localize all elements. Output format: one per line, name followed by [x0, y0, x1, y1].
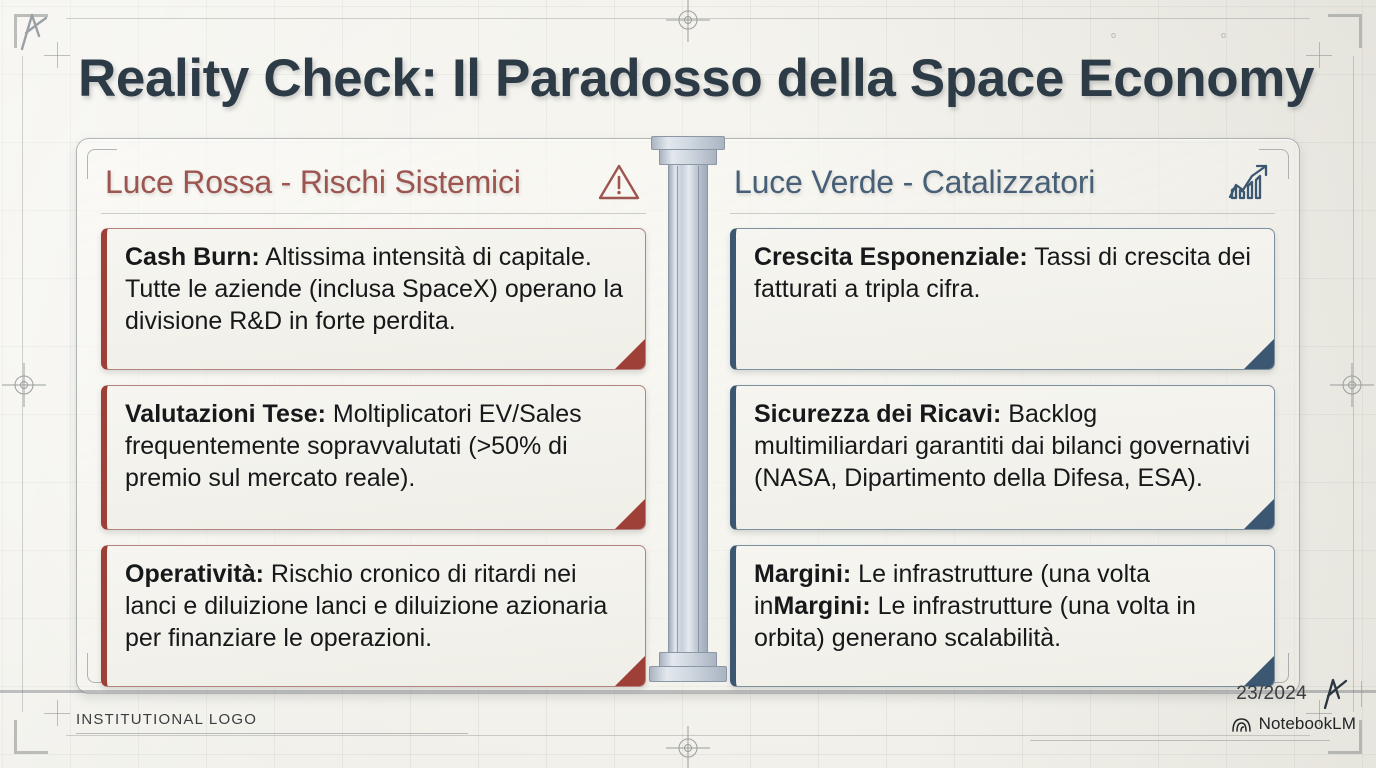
card-fold-corner	[615, 656, 645, 686]
risks-column: Luce Rossa - Rischi Sistemici Cash Burn:…	[101, 161, 646, 702]
catalyst-card-margins[interactable]: Margini: Le infrastrutture (una volta in…	[730, 545, 1275, 687]
corner-bracket-top-right	[1328, 14, 1362, 48]
a-monogram-footer-icon	[1319, 677, 1349, 711]
warning-triangle-icon	[596, 161, 642, 203]
plus-tick-top-left	[44, 42, 70, 68]
page-title: Reality Check: Il Paradosso della Space …	[78, 48, 1314, 109]
page-number: 23/2024	[1236, 683, 1307, 705]
card-fold-corner	[1244, 339, 1274, 369]
frame-rule-top	[66, 18, 1310, 19]
catalyst-card-1-lead: Crescita Esponenziale:	[754, 243, 1028, 271]
catalyst-card-growth[interactable]: Crescita Esponenziale: Tassi di crescita…	[730, 228, 1275, 370]
risk-card-3-lead: Operatività:	[125, 560, 264, 588]
risk-card-1-lead: Cash Burn:	[125, 243, 260, 271]
footer-divider	[1361, 681, 1362, 707]
catalysts-heading: Luce Verde - Catalizzatori	[734, 164, 1095, 201]
registration-target-bottom-icon	[666, 726, 710, 768]
content-board: Luce Rossa - Rischi Sistemici Cash Burn:…	[76, 138, 1300, 694]
risk-card-2-lead: Valutazioni Tese:	[125, 400, 326, 428]
catalysts-column-header: Luce Verde - Catalizzatori	[730, 161, 1275, 214]
catalyst-card-3-lead-2: Margini:	[773, 592, 870, 620]
risks-heading: Luce Rossa - Rischi Sistemici	[105, 164, 521, 201]
card-fold-corner	[1244, 499, 1274, 529]
risk-card-valuations[interactable]: Valutazioni Tese: Moltiplicatori EV/Sale…	[101, 385, 646, 530]
plus-tick-bottom-left	[44, 700, 70, 726]
frame-rule-bottom	[66, 735, 1310, 736]
risk-card-operations[interactable]: Operatività: Rischio cronico di ritardi …	[101, 545, 646, 687]
card-fold-corner	[615, 499, 645, 529]
catalyst-card-3-lead: Margini:	[754, 560, 851, 588]
footer-left-underline	[76, 733, 468, 734]
dot-mark-a: o	[1111, 30, 1116, 40]
institution-label: INSTITUTIONAL LOGO	[76, 711, 468, 728]
footer-right: 23/2024 NotebookLM	[1231, 677, 1362, 734]
corner-bracket-top-left	[14, 14, 48, 48]
a-monogram-logo-icon	[16, 12, 50, 52]
risk-card-cash-burn[interactable]: Cash Burn: Altissima intensità di capita…	[101, 228, 646, 370]
catalyst-card-2-lead: Sicurezza dei Ricavi:	[754, 400, 1001, 428]
brand-label: NotebookLM	[1259, 714, 1356, 734]
catalyst-card-revenue-security[interactable]: Sicurezza dei Ricavi: Backlog multimilia…	[730, 385, 1275, 530]
footer-right-rule	[1030, 740, 1330, 741]
corner-bracket-bottom-left	[14, 720, 48, 754]
registration-target-left-icon	[2, 363, 46, 407]
registration-target-right-icon	[1330, 363, 1374, 407]
card-fold-corner	[615, 339, 645, 369]
ground-line	[0, 690, 1376, 693]
footer-left: INSTITUTIONAL LOGO	[76, 711, 468, 734]
risks-column-header: Luce Rossa - Rischi Sistemici	[101, 161, 646, 214]
registration-target-top-icon	[666, 0, 710, 42]
frame-rule-left	[22, 56, 23, 712]
notebooklm-icon	[1231, 716, 1252, 733]
slide-canvas: o o Reality Check: Il Paradosso della Sp…	[0, 0, 1376, 768]
dot-mark-b: o	[1221, 30, 1226, 40]
frame-rule-right	[1353, 56, 1354, 712]
growth-chart-icon	[1225, 161, 1271, 203]
catalysts-column: Luce Verde - Catalizzatori	[730, 161, 1275, 702]
